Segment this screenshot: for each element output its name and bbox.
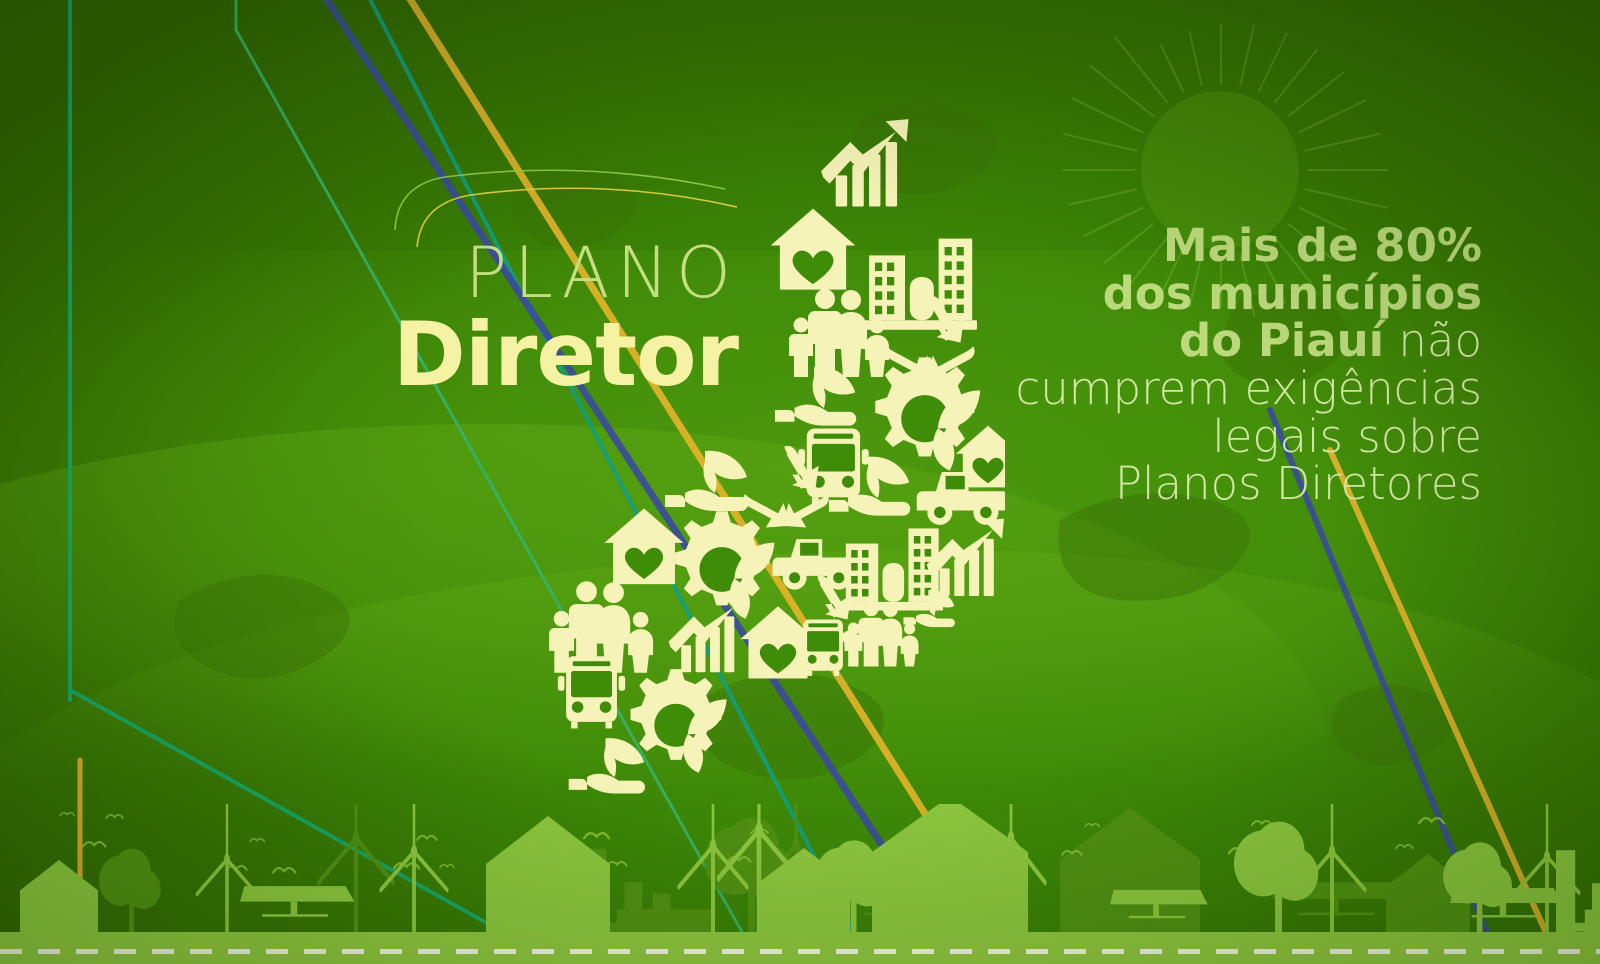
ground-strip (0, 932, 1600, 964)
bird-icon (584, 833, 609, 838)
solar-panel-icon (240, 886, 354, 917)
bird-icon (106, 815, 123, 818)
copy-bold-line-3: do Piauí não (1002, 317, 1482, 365)
road-dashed-marking (0, 949, 1600, 954)
bird-icon (1085, 824, 1099, 827)
bus-icon (798, 428, 869, 504)
growth-chart-arrow-icon (821, 119, 908, 206)
page-title-diretor: Diretor (378, 310, 738, 400)
house-with-heart-icon (604, 508, 683, 584)
house-icon (20, 860, 98, 936)
bird-icon (250, 839, 264, 842)
hand-holding-leaves-icon (665, 451, 748, 511)
bus-icon (797, 620, 849, 676)
copy-strong-piaui: do Piauí (1179, 314, 1384, 367)
house-with-heart-icon (771, 209, 856, 290)
copy-bold-line-1: Mais de 80% (1002, 222, 1482, 270)
page-title-plano: PLANO (378, 238, 738, 308)
statistic-copy-block: Mais de 80% dos municípios do Piauí não … (1002, 222, 1482, 508)
bird-icon (440, 865, 454, 868)
piaui-map-icon-mosaic (505, 105, 1005, 795)
gear-with-leaves-icon (631, 669, 727, 773)
city-buildings-icon (839, 528, 943, 610)
poster-canvas: PLANO Diretor Mais de 80% dos municípios… (0, 0, 1600, 964)
copy-light-line-1: cumprem exigências (1002, 365, 1482, 413)
bus-icon (558, 656, 625, 728)
city-buildings-icon (862, 239, 977, 330)
copy-light-line-2: legais sobre (1002, 413, 1482, 461)
copy-light-line-3: Planos Diretores (1002, 460, 1482, 508)
bird-icon (417, 836, 437, 840)
gear-with-leaves-icon (675, 511, 775, 619)
bird-icon (83, 842, 105, 847)
growth-chart-arrow-icon (669, 597, 745, 673)
hand-holding-leaves-icon (569, 738, 645, 793)
bird-icon (60, 813, 74, 816)
bird-icon (1396, 845, 1413, 848)
copy-light-nao: não (1384, 314, 1482, 367)
bird-icon (1419, 818, 1444, 823)
copy-bold-line-2: dos municípios (1002, 270, 1482, 318)
eco-city-skyline (0, 804, 1600, 964)
title-block: PLANO Diretor (378, 238, 738, 400)
tree-icon (99, 849, 161, 941)
bird-icon (273, 868, 295, 873)
